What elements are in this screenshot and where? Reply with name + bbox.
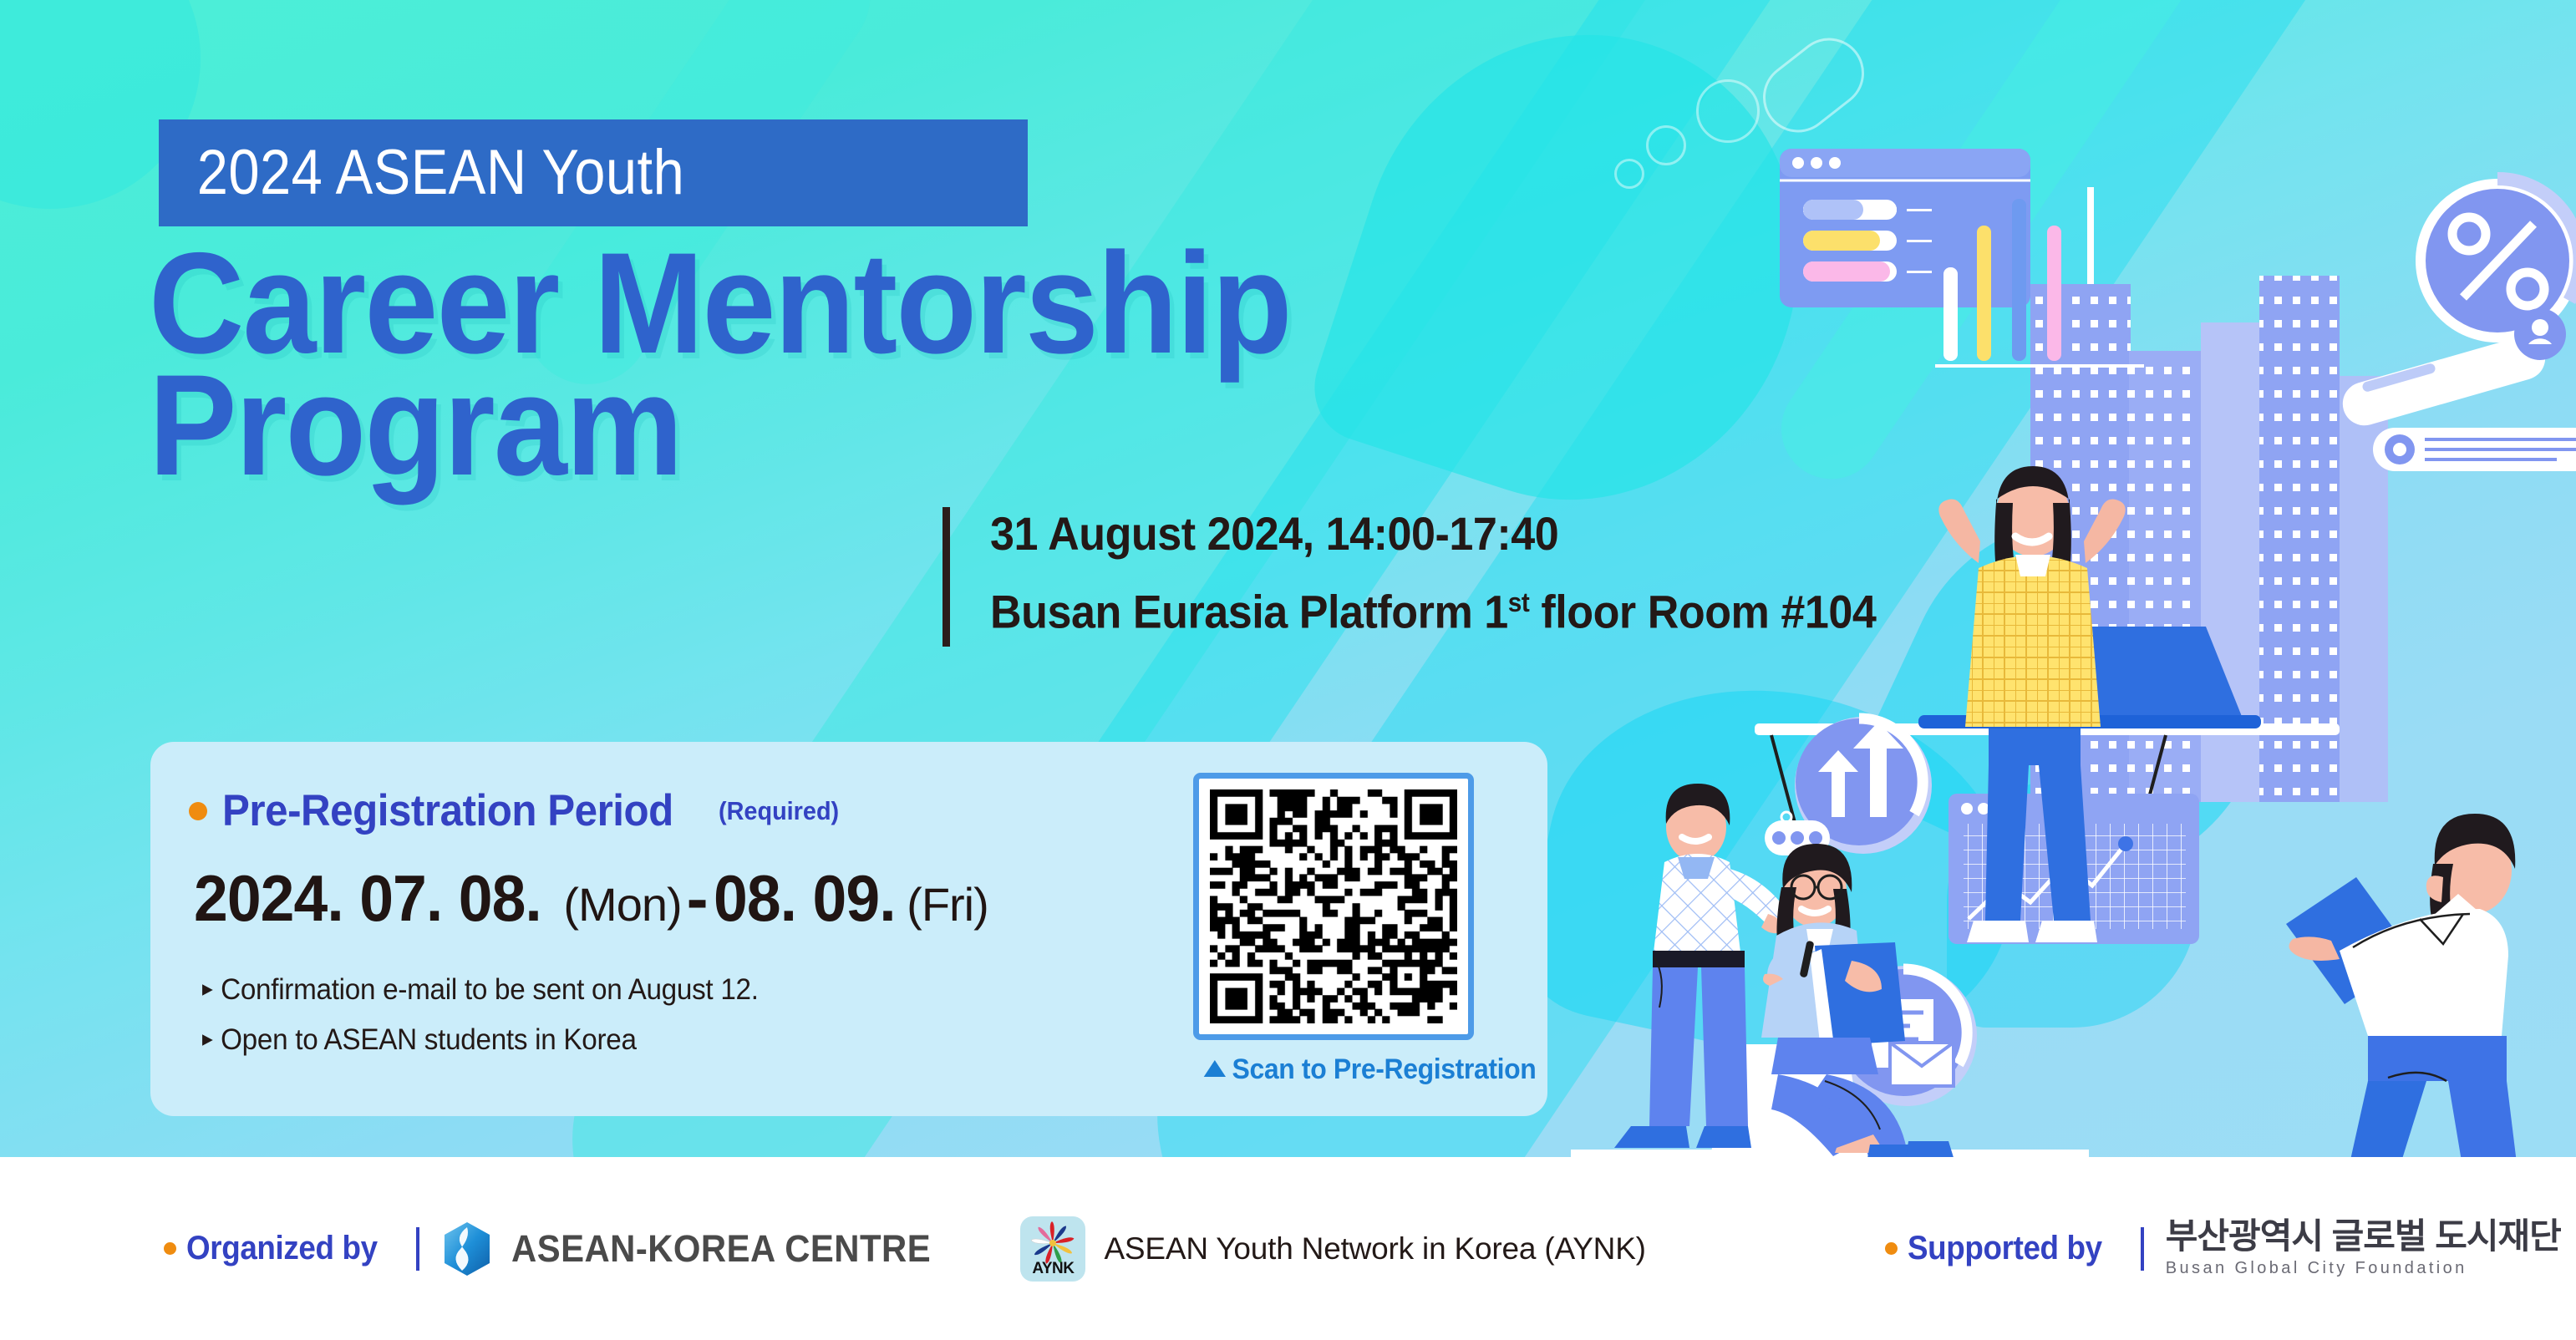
note-marker-icon: ▸ [202,976,213,1001]
bullet-dot-icon [189,802,207,820]
aynk-mark-text: AYNK [1020,1260,1085,1278]
venue-prefix: Busan Eurasia Platform 1 [990,586,1508,638]
panel-notes: ▸Confirmation e-mail to be sent on Augus… [202,966,788,1066]
panel-heading: Pre-Registration Period (Required) [189,785,848,836]
divider [2141,1227,2144,1271]
list-item: ▸Confirmation e-mail to be sent on Augus… [202,966,759,1016]
triangle-up-icon [1204,1060,1226,1077]
person-tablet [2286,814,2555,1157]
supporter-name-en: Busan Global City Foundation [2166,1256,2561,1281]
note-text: Open to ASEAN students in Korea [221,1023,637,1056]
period-end-date: 08. 09. [714,860,896,936]
person-mentee [1761,844,1955,1157]
meta-divider [943,507,950,647]
panel-required-note: (Required) [719,796,839,826]
event-venue: Busan Eurasia Platform 1st floor Room #1… [990,568,1876,647]
qr-block[interactable]: Scan to Pre-Registration [1193,773,1547,1086]
background-gradient: 2024 ASEAN Youth Career Mentorship Progr… [0,0,2576,1157]
period-start-day: (Mon) [563,878,681,931]
registration-period: 2024. 07. 08.(Mon)-08. 09.(Fri) [194,860,988,936]
venue-suffix: floor Room #104 [1529,586,1876,638]
decorative-ring [1614,159,1644,189]
asean-korea-centre-logo-icon [441,1221,493,1277]
supported-by-group: Supported by 부산광역시 글로벌 도시재단 Busan Global… [1885,1217,2561,1281]
decorative-ring [1646,125,1686,165]
list-item: ▸Open to ASEAN students in Korea [202,1016,759,1066]
bullet-dot-icon [1885,1242,1898,1255]
organized-by-label: Organized by [186,1230,378,1267]
aynk-logo-icon: AYNK [1020,1216,1085,1282]
event-meta: 31 August 2024, 14:00-17:40 Busan Eurasi… [990,500,1943,647]
footer: Organized by ASEAN-KOREA CENTRE [0,1157,2576,1340]
event-date: 31 August 2024, 14:00-17:40 [990,500,1876,568]
qr-canvas[interactable] [1210,789,1457,1023]
bullet-dot-icon [164,1242,176,1255]
supporter-name-kr: 부산광역시 글로벌 도시재단 [2166,1217,2561,1256]
divider [416,1227,419,1271]
organizer-1-name: ASEAN-KOREA CENTRE [511,1227,931,1271]
mentoring-illustration [1571,710,2089,1157]
qr-caption-text: Scan to Pre-Registration [1232,1053,1537,1085]
decorative-ring [1696,79,1760,143]
event-year-badge: 2024 ASEAN Youth [159,119,1028,226]
badge-text: 2024 ASEAN Youth [159,119,923,226]
note-marker-icon: ▸ [202,1026,213,1051]
venue-ordinal: st [1508,587,1530,617]
panel-title: Pre-Registration Period [222,785,673,836]
aynk-group: AYNK ASEAN Youth Network in Korea (AYNK) [1020,1216,1645,1282]
period-end-day: (Fri) [907,878,988,931]
page-title: Career Mentorship Program [149,242,1820,486]
supported-by-label: Supported by [1908,1230,2102,1267]
headline-line-2: Program [149,364,1686,486]
poster: 2024 ASEAN Youth Career Mentorship Progr… [0,0,2576,1340]
qr-code[interactable] [1193,773,1474,1040]
organizer-2-name: ASEAN Youth Network in Korea (AYNK) [1104,1231,1645,1266]
qr-caption: Scan to Pre-Registration [1204,1053,1537,1086]
period-start-date: 2024. 07. 08. [194,860,541,936]
period-dash: - [682,861,714,935]
supporter-block: 부산광역시 글로벌 도시재단 Busan Global City Foundat… [2166,1217,2561,1281]
organized-by-group: Organized by ASEAN-KOREA CENTRE [164,1221,962,1277]
note-text: Confirmation e-mail to be sent on August… [221,973,759,1006]
